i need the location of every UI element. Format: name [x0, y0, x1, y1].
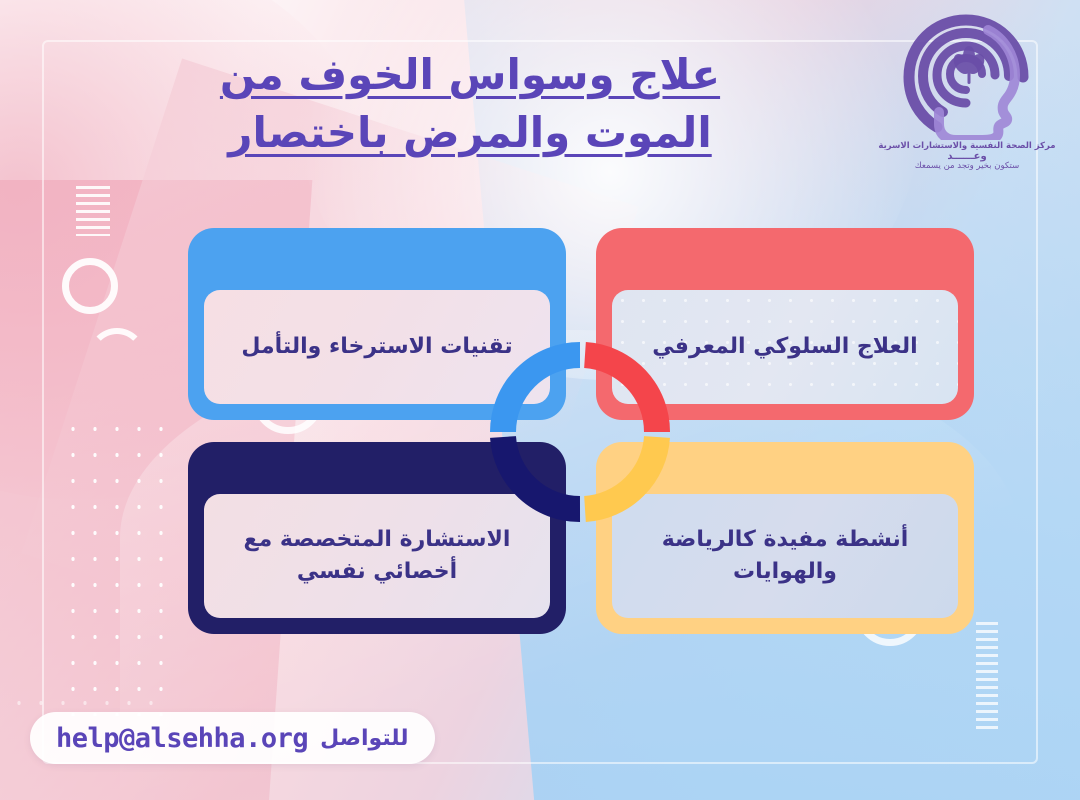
contact-pill[interactable]: للتواصل help@alsehha.org — [30, 712, 435, 764]
logo-tagline: ستكون بخير وتجد من يسمعك — [872, 161, 1062, 171]
center-connector-ring — [486, 338, 674, 526]
brain-head-icon — [892, 14, 1042, 140]
logo-organization-name: مركز الصحة النفسية والاستشارات الاسرية — [872, 141, 1062, 151]
contact-email[interactable]: help@alsehha.org — [56, 723, 308, 754]
card-cbt-label: العلاج السلوكي المعرفي — [652, 331, 917, 363]
page-title: علاج وسواس الخوف من الموت والمرض باختصار — [150, 46, 790, 162]
card-activities-label: أنشطة مفيدة كالرياضة والهوايات — [630, 524, 940, 588]
ring-segment-cbt — [585, 355, 657, 432]
contact-label: للتواصل — [320, 726, 408, 751]
card-relaxation-label: تقنيات الاسترخاء والتأمل — [241, 331, 512, 363]
card-consult-label: الاستشارة المتخصصة مع أخصائي نفسي — [222, 524, 532, 588]
ring-segment-activities — [585, 437, 657, 509]
ring-segment-relaxation — [503, 355, 580, 432]
organization-logo: مركز الصحة النفسية والاستشارات الاسرية و… — [872, 14, 1062, 199]
ring-segment-consult — [503, 437, 580, 509]
infographic-canvas: علاج وسواس الخوف من الموت والمرض باختصار… — [0, 0, 1080, 800]
